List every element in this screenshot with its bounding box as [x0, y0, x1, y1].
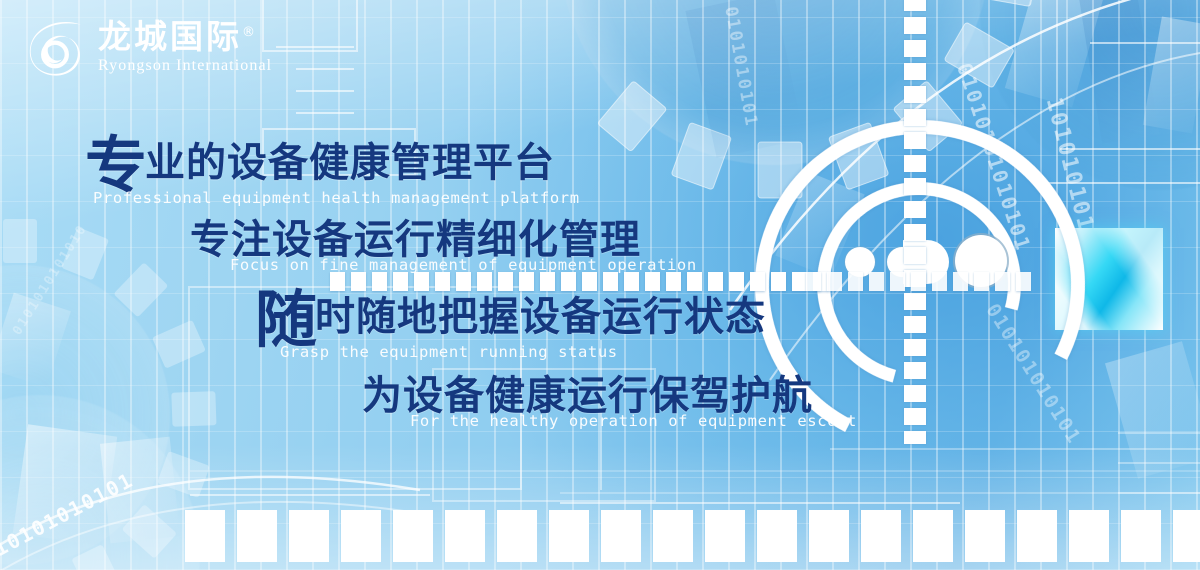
headline-block: 专业的设备健康管理平台 Professional equipment healt…	[0, 138, 860, 434]
headline-en-2: Focus on fine management of equipment op…	[190, 256, 860, 274]
logo-company-cn: 龙城国际®	[98, 20, 272, 53]
headline-row-2: 专注设备运行精细化管理 Focus on fine management of …	[0, 219, 860, 274]
frame-line	[1118, 492, 1200, 494]
frame-line	[1118, 462, 1200, 464]
registered-mark-icon: ®	[242, 25, 258, 40]
frame-line	[296, 68, 354, 70]
headline-row-3: 随时随地把握设备运行状态 Grasp the equipment running…	[0, 292, 860, 361]
headline-rest-3: 时随地把握设备运行状态	[315, 294, 766, 340]
vertical-dash-column	[904, 0, 926, 444]
headline-en-1: Professional equipment health management…	[85, 189, 860, 207]
frame-line	[296, 112, 354, 114]
headline-cn-3: 随时随地把握设备运行状态	[255, 292, 860, 348]
headline-lead-char-1: 专	[85, 138, 147, 194]
ryongson-swirl-logo-icon	[24, 16, 86, 78]
headline-rest-1: 业的设备健康管理平台	[145, 140, 555, 186]
headline-row-1: 专业的设备健康管理平台 Professional equipment healt…	[0, 138, 860, 207]
frame-line	[276, 46, 354, 48]
brand-logo[interactable]: 龙城国际® Ryongson International	[24, 16, 272, 78]
film-strip-line	[560, 502, 960, 504]
bottom-film-strip	[185, 510, 1200, 562]
frame-accent	[262, 0, 358, 52]
frame-line	[190, 470, 1200, 472]
film-strip-line	[190, 494, 430, 496]
headline-lead-char-3: 随	[255, 292, 317, 348]
headline-en-3: Grasp the equipment running status	[255, 343, 860, 361]
frame-line	[560, 492, 1200, 494]
headline-en-4: For the healthy operation of equipment e…	[362, 412, 860, 430]
headline-cn-4: 为设备健康运行保驾护航	[362, 375, 860, 417]
frame-line	[296, 90, 354, 92]
hero-banner: 01010101010101 1010101010101 0101010101 …	[0, 0, 1200, 570]
frame-line	[1090, 42, 1200, 44]
headline-row-4: 为设备健康运行保驾护航 For the healthy operation of…	[0, 375, 860, 430]
headline-cn-1: 专业的设备健康管理平台	[85, 138, 860, 194]
logo-company-en: Ryongson International	[98, 58, 272, 74]
frame-line	[1118, 432, 1200, 434]
headline-cn-2: 专注设备运行精细化管理	[190, 219, 860, 261]
